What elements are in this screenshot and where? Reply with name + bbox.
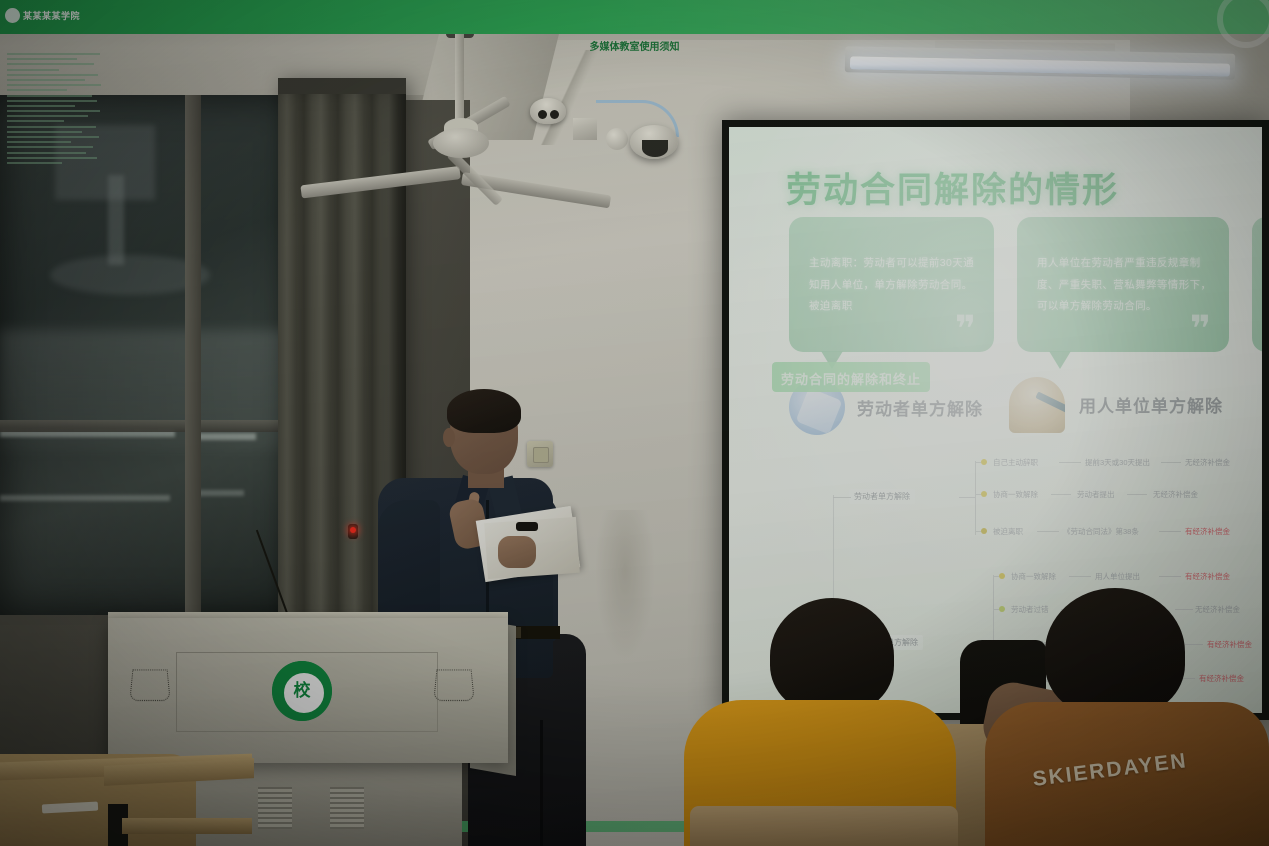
- persona-label-worker: 劳动者单方解除: [857, 395, 983, 420]
- mindmap-node-result: 无经济补偿金: [1185, 457, 1230, 468]
- mindmap-node-name: 被迫离职: [993, 526, 1023, 537]
- speech-bubble-2: 用人单位在劳动者严重违反规章制度、严重失职、营私舞弊等情形下，可以单方解除劳动合…: [1017, 217, 1229, 352]
- power-outlet-face: [533, 447, 549, 463]
- speech-bubble-3: [1252, 217, 1262, 352]
- quote-mark-icon: ❞: [1190, 318, 1211, 340]
- speech-bubble-2-tail: [1049, 351, 1071, 369]
- quote-mark-icon: ❞: [955, 318, 976, 340]
- poster-body-text: [7, 53, 104, 167]
- lecture-chair: [690, 806, 958, 846]
- mindmap-node-detail: 提前3天或30天提出: [1085, 457, 1150, 468]
- poster-title: 多媒体教室使用须知: [0, 38, 118, 53]
- window-reflection-light: [0, 495, 170, 501]
- school-emblem-glyph: 校: [282, 676, 322, 701]
- mindmap-node-name: 劳动者过错: [1011, 604, 1049, 615]
- speech-bubble-1: 主动离职：劳动者可以提前30天通知用人单位，单方解除劳动合同。被迫离职 ❞: [789, 217, 994, 352]
- student-front-left-head: [770, 598, 894, 714]
- camera-lens-icon: [550, 110, 559, 119]
- employer-photo-icon: [1009, 377, 1065, 433]
- poster-logo-icon: [5, 8, 20, 23]
- mindmap-node-result: 有经济补偿金: [1207, 639, 1252, 650]
- podium-vent: [330, 787, 364, 829]
- speaker-wristwatch: [516, 522, 538, 531]
- worker-photo-shape: [796, 388, 843, 435]
- lecture-desk-shelf: [122, 818, 252, 834]
- mindmap-node-detail: 《劳动合同法》第38条: [1063, 526, 1139, 537]
- microphone-led-indicator: [350, 527, 356, 533]
- mindmap-node-detail: 用人单位提出: [1095, 571, 1140, 582]
- curtain-rail: [278, 78, 406, 94]
- podium-decoration-icon: [433, 670, 474, 702]
- window-reflection-light: [196, 490, 244, 496]
- mindmap-node-result: 有经济补偿金: [1185, 571, 1230, 582]
- mindmap-node-result: 无经济补偿金: [1195, 604, 1240, 615]
- mindmap-node-result: 有经济补偿金: [1199, 673, 1244, 684]
- poster-header: 某某某某学院: [0, 0, 118, 34]
- classroom-scene: 某某某某学院 多媒体教室使用须知 劳动合同解除的情形 主动离职：劳动者可以提前3…: [0, 0, 1269, 846]
- student-front-right-head: [1045, 588, 1185, 716]
- dome-camera-icon: [530, 98, 566, 124]
- slide-highlight-pill: 劳动合同的解除和终止: [772, 362, 930, 392]
- mindmap-node-result: 无经济补偿金: [1153, 489, 1198, 500]
- speech-bubble-1-text: 主动离职：劳动者可以提前30天通知用人单位，单方解除劳动合同。被迫离职: [809, 253, 979, 318]
- window-rail: [0, 420, 300, 432]
- speaker-right-hand: [498, 536, 536, 568]
- speech-bubble-2-text: 用人单位在劳动者严重违反规章制度、严重失职、营私舞弊等情形下，可以单方解除劳动合…: [1037, 253, 1213, 318]
- speaker-ear: [443, 428, 455, 447]
- window-mullion: [185, 95, 201, 615]
- wall-scuff: [595, 510, 655, 660]
- motion-sensor-icon: [606, 128, 628, 150]
- mindmap-branch-label: 劳动者单方解除: [849, 489, 915, 504]
- speaker-leg-split: [540, 720, 543, 846]
- window-reflection-light: [196, 433, 256, 440]
- mindmap-node-detail: 劳动者提出: [1077, 489, 1115, 500]
- junction-box: [573, 118, 597, 140]
- window-reflection-fan-stem: [108, 175, 124, 265]
- wall-notice-poster: 某某某某学院 多媒体教室使用须知: [0, 0, 118, 170]
- mindmap-node-name: 协商一致解除: [993, 489, 1038, 500]
- poster-organization: 某某某某学院: [23, 9, 80, 22]
- camera-dome-glass: [642, 140, 668, 157]
- speaker-hair: [447, 389, 521, 433]
- mindmap-node-result: 有经济补偿金: [1185, 526, 1230, 537]
- mindmap-node-name: 协商一致解除: [1011, 571, 1056, 582]
- podium-vent: [258, 787, 292, 829]
- slide-title: 劳动合同解除的情形: [786, 162, 1119, 213]
- employer-photo-pen: [1035, 391, 1065, 413]
- camera-lens-icon: [538, 110, 547, 119]
- ceiling-fan-icon: [433, 128, 489, 158]
- slide-highlight-label: 劳动合同的解除和终止: [772, 369, 930, 388]
- mindmap-node-name: 自己主动辞职: [993, 457, 1038, 468]
- persona-label-employer: 用人单位单方解除: [1079, 392, 1223, 417]
- podium-decoration-icon: [129, 670, 170, 702]
